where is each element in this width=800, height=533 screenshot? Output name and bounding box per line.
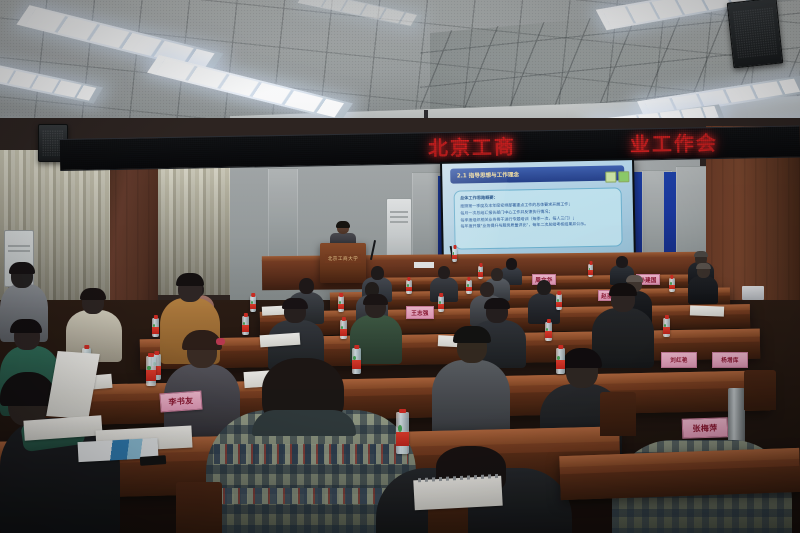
podium: 北京工商大学: [320, 243, 366, 283]
bottle-r4-3: [438, 296, 444, 312]
bottle-r3-3: [340, 320, 347, 339]
slide-body: 总体工作思路概要： 按照第一季度及本年度安排部署重点工作的总体要求开展工作； 每…: [454, 187, 622, 249]
attendee-r2-3: [432, 330, 510, 438]
chair-right-1: [600, 392, 636, 436]
podium-plate: 北京工商大学: [325, 254, 361, 263]
placard-front-left-text: 李书友: [168, 395, 194, 408]
attendee-r5-2: [430, 266, 458, 300]
document-r4-2: [690, 305, 724, 316]
ceiling-speaker-right: [727, 0, 784, 68]
desk-phone: [140, 455, 167, 466]
bottle-r6-2: [588, 264, 593, 277]
bottle-r4-2: [338, 296, 344, 312]
bottle-foreground: [396, 412, 409, 454]
slide-icon-window: [605, 172, 616, 183]
presenter-hair: [336, 221, 350, 228]
projection-screen: 2.1 指导思想与工作理念 总体工作思路概要： 按照第一季度及本年度安排部署重点…: [442, 160, 634, 266]
placard-mid-right-1: 刘红艳: [661, 352, 697, 368]
placard-mid-left-text: 王志强: [411, 309, 428, 317]
chair-right-2: [744, 370, 776, 410]
bottle-r3-2: [242, 316, 249, 335]
bottle-r3-1: [152, 318, 159, 337]
bottle-r5-1: [406, 280, 412, 294]
placard-mid-right-2-text: 杨增库: [721, 356, 738, 364]
tissue-box: [742, 286, 764, 300]
placard-mid-right-1-text: 刘红艳: [670, 356, 687, 364]
desk-row-right-front: [559, 448, 800, 500]
slide-icon-green: [618, 171, 629, 182]
slide-title: 2.1 指导思想与工作理念: [457, 171, 519, 180]
wall-ac-unit: [386, 198, 412, 262]
bottle-r4-4: [556, 294, 562, 310]
slide-body-heading: 总体工作思路概要：: [460, 192, 615, 201]
head-table-bottle: [452, 248, 457, 262]
slide-icon-group: [605, 171, 629, 182]
slide-bullet-4: 每年度开展"业务提升与服务质量评比"，每年二次总结考核结果并公示。: [461, 221, 616, 229]
bottle-r6-1: [478, 266, 483, 279]
placard-mid-right-2: 杨增库: [712, 352, 748, 368]
bottle-r4-1: [250, 296, 256, 312]
slide-title-bar: 2.1 指导思想与工作理念: [450, 165, 625, 184]
conference-room-photo: 北京工商 业工作会 2.1 指导思想与工作理念 总体工作思路概要： 按照第一季度…: [0, 0, 800, 533]
chair-left-1: [176, 482, 222, 533]
attendee-r5-4: [688, 264, 718, 302]
projection-screen-frame: 2.1 指导思想与工作理念 总体工作思路概要： 按照第一季度及本年度安排部署重点…: [440, 158, 636, 268]
bottle-r1-1: [146, 356, 156, 386]
hair-clip: [216, 338, 225, 345]
bottle-r3-4: [545, 322, 552, 341]
placard-mid-left: 王志强: [406, 306, 434, 319]
podium-text: 北京工商大学: [328, 256, 359, 262]
bottle-r5-3: [669, 278, 675, 292]
foreground-collar: [252, 410, 356, 436]
attendee-r3-2: [66, 290, 122, 360]
bottle-r3-5: [663, 318, 670, 337]
placard-front-left: 李书友: [159, 391, 202, 413]
bottle-r2-4: [556, 348, 565, 374]
